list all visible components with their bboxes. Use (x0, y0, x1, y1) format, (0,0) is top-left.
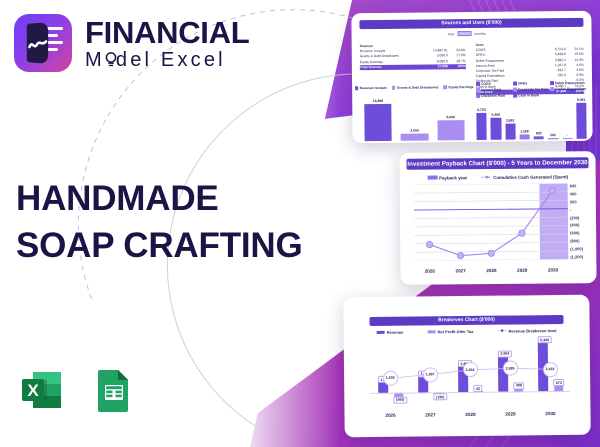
bar-value-label-uses-2: 3,992 (506, 119, 515, 123)
payback-ytick-9: (1,200) (570, 254, 594, 259)
months-label: months (474, 31, 485, 35)
legend-label-breakeven-level: Revenue Breakeven level (508, 328, 556, 334)
sources-bar-chart: 14,8983,0008,000 (364, 94, 464, 141)
payback-ytick-4: (200) (570, 215, 594, 220)
legend-label-uses-0: COGS (481, 82, 491, 86)
payback-x-axis-labels: 20262027202820292030 (414, 267, 568, 278)
net-profit-value-label-1: (190) (433, 393, 446, 400)
legend-item-uses-0: COGS (476, 82, 511, 86)
sources-table: SourcesRevenue receipts14,897.9153.9%Gra… (360, 43, 466, 70)
legend-label-cumulative-cash: Cumulative Cash Generated (Spent) (493, 174, 568, 180)
legend-swatch-breakeven-level (497, 329, 506, 334)
payback-xtick-3: 2029 (507, 268, 538, 278)
legend-item-uses-3: Interest Paid (476, 88, 511, 92)
legend-swatch-uses-0 (476, 82, 480, 86)
bar-column-sources-0: 14,898 (364, 99, 392, 141)
card-investment-payback[interactable]: Investment Payback Chart ($'000) - 5 Yea… (399, 151, 596, 285)
payback-xtick-4: 2030 (538, 267, 569, 277)
financial-model-document-icon (14, 14, 72, 72)
brand-name-line2-suffix: del Excel (116, 49, 226, 71)
legend-item-sources-0: Revenue receipts (355, 86, 387, 90)
bar-column-uses-1: 5,469 (491, 113, 502, 140)
legend-item-sources-2: Equity Earnings (443, 85, 473, 89)
net-profit-value-label-4: 673 (553, 379, 564, 386)
bar-value-label-uses-5: 262 (550, 133, 556, 137)
bar-value-label-sources-1: 3,000 (410, 128, 419, 132)
trend-squiggle-icon (28, 38, 48, 52)
payback-y-axis-labels: 600400200-(200)(400)(600)(800)(1,000)(1,… (570, 183, 595, 259)
legend-item-cumulative-cash: Cumulative Cash Generated (Spent) (481, 174, 568, 180)
microsoft-excel-icon: X (18, 366, 66, 414)
legend-label-sources-2: Equity Earnings (448, 85, 473, 89)
legend-label-revenue: Revenue (387, 330, 404, 335)
card-breakeven[interactable]: Breakeven Chart ($'000) Revenue Net Prof… (343, 295, 590, 438)
legend-item-breakeven-level: Revenue Breakeven level (497, 328, 556, 334)
bar-column-sources-2: 8,000 (437, 115, 465, 140)
payback-plot-area (414, 183, 569, 260)
net-profit-value-label-0: (465) (394, 396, 407, 403)
legend-swatch-uses-3 (476, 88, 480, 92)
total-name: Total Sources (360, 64, 422, 70)
cumulative-cash-point (488, 250, 494, 256)
breakeven-title: Breakeven Chart ($'000) (369, 315, 563, 326)
legend-item-sources-1: Grants & Debt Drawdowns (392, 85, 439, 89)
bar-value-label-uses-4: 833 (536, 131, 542, 135)
format-badges: X (18, 366, 136, 414)
cumulative-cash-point (457, 252, 463, 258)
card-sources-and-uses[interactable]: Sources and Uses ($'000) Year months Sou… (351, 11, 592, 144)
left-content: FINANCIAL M del Excel HANDMADE SOAP CRAF… (0, 0, 340, 447)
payback-title: Investment Payback Chart ($'000) - 5 Yea… (406, 157, 588, 170)
bar-value-label-sources-2: 8,000 (446, 116, 455, 120)
breakeven-marker-4: 2,433 (542, 362, 557, 377)
payback-year-band (539, 183, 568, 259)
sources-legend: Revenue receiptsGrants & Debt DrawdownsE… (360, 85, 468, 90)
legend-swatch-revenue (377, 331, 385, 334)
bar-column-uses-2: 3,992 (505, 119, 515, 140)
google-sheets-icon (88, 366, 136, 414)
bar-column-uses-0: 6,723 (476, 108, 487, 140)
payback-xtick-0: 2026 (414, 268, 445, 278)
breakeven-baseline (370, 391, 570, 394)
payback-ytick-8: (1,000) (570, 246, 594, 251)
net-profit-value-label-3: 408 (513, 382, 524, 389)
year-filter-value-chip[interactable] (457, 31, 471, 36)
breakeven-xtick-0: 2026 (370, 413, 410, 423)
bar-column-uses-4: 833 (534, 131, 544, 139)
breakeven-xtick-4: 2030 (530, 411, 570, 421)
bar-uses-6 (562, 138, 572, 139)
bar-uses-1 (491, 118, 501, 140)
headline-line2: SOAP CRAFTING (16, 223, 303, 270)
cumulative-cash-point (519, 230, 525, 236)
brand-wordmark: FINANCIAL M del Excel (85, 17, 249, 70)
legend-item-uses-5: Capital Expenditure (550, 87, 586, 91)
document-lines-icon (46, 27, 63, 59)
page-title: HANDMADE SOAP CRAFTING (16, 176, 303, 270)
net-profit-value-label-2: 43 (473, 385, 482, 392)
legend-swatch-uses-4 (513, 88, 517, 92)
headline-line1: HANDMADE (16, 176, 303, 223)
revenue-value-label-3: 3,904 (498, 350, 512, 357)
legend-swatch-sources-2 (443, 86, 447, 90)
payback-ytick-6: (600) (570, 230, 594, 235)
sources-uses-title: Sources and Uses ($'000) (359, 18, 583, 29)
table-total-row: Total Sources27,898100% (360, 64, 466, 70)
total-pct: 100% (448, 64, 466, 69)
legend-swatch-uses-2 (550, 81, 554, 85)
payback-ytick-7: (800) (570, 238, 594, 243)
legend-item-uses-2: Debts Repayments (550, 81, 586, 85)
brand-name-line2: M del Excel (85, 50, 226, 70)
bar-uses-3 (519, 134, 529, 139)
payback-xtick-2: 2028 (476, 268, 507, 278)
legend-label-uses-1: OPEX (518, 81, 527, 85)
legend-swatch-sources-1 (392, 86, 396, 90)
bar-value-label-uses-6: - (567, 133, 568, 137)
legend-label-uses-5: Capital Expenditure (555, 87, 586, 91)
breakeven-xtick-1: 2027 (410, 412, 450, 422)
legend-label-uses-3: Interest Paid (481, 88, 501, 92)
brand-logo: FINANCIAL M del Excel (14, 14, 249, 72)
legend-swatch-payback-year (427, 176, 437, 180)
legend-label-net-profit: Net Profit After Tax (437, 329, 473, 334)
uses-bar-chart: 6,7235,4693,9921,268833262-9,061 (476, 93, 586, 140)
breakeven-plot-area: 1,240(465)1,6391,848(190)1,9972,857432,4… (370, 337, 571, 407)
breakeven-xtick-3: 2029 (490, 411, 530, 421)
bar-value-label-sources-0: 14,898 (373, 99, 383, 103)
bar-sources-1 (401, 133, 428, 141)
bar-value-label-uses-3: 1,268 (520, 129, 529, 133)
bar-sources-0 (364, 104, 392, 141)
legend-item-payback-year: Payback year (427, 175, 467, 180)
payback-xtick-1: 2027 (445, 268, 476, 278)
breakeven-x-axis-labels: 20262027202820292030 (370, 411, 570, 423)
payback-gridline (414, 259, 568, 260)
payback-ytick-2: 200 (570, 199, 594, 204)
payback-svg (414, 183, 569, 260)
bar-column-uses-5: 262 (548, 133, 558, 139)
payback-ytick-3: - (570, 207, 594, 212)
bar-column-uses-3: 1,268 (519, 129, 529, 139)
legend-label-sources-1: Grants & Debt Drawdowns (397, 85, 439, 89)
payback-legend: Payback year Cumulative Cash Generated (… (407, 172, 589, 182)
bar-sources-2 (437, 120, 465, 140)
breakeven-marker-3: 2,585 (502, 361, 517, 376)
revenue-value-label-4: 5,366 (538, 336, 552, 343)
total-value: 27,898 (422, 64, 448, 69)
legend-label-uses-2: Debts Repayments (555, 81, 585, 85)
cumulative-cash-point (549, 187, 555, 193)
legend-label-payback-year: Payback year (439, 175, 467, 180)
bar-column-sources-1: 3,000 (401, 128, 428, 141)
breakeven-marker-0: 1,639 (383, 371, 398, 386)
legend-swatch-sources-0 (355, 86, 359, 90)
breakeven-marker-1: 1,997 (423, 367, 438, 382)
bar-value-label-uses-1: 5,469 (492, 113, 501, 117)
payback-ytick-1: 400 (570, 191, 594, 196)
bar-value-label-uses-7: 9,061 (577, 98, 586, 102)
bar-uses-4 (534, 136, 544, 139)
legend-label-uses-4: Corporate Tax Paid (518, 87, 548, 91)
brand-name-line1: FINANCIAL (85, 17, 249, 48)
bar-value-label-uses-0: 6,723 (477, 108, 486, 112)
cumulative-cash-point (426, 241, 432, 247)
bar-column-uses-7: 9,061 (576, 98, 587, 139)
breakeven-marker-2: 2,454 (462, 362, 477, 377)
legend-swatch-net-profit (427, 330, 435, 333)
bar-column-uses-6: - (562, 133, 572, 139)
legend-item-uses-1: OPEX (513, 81, 548, 85)
breakeven-legend: Revenue Net Profit After Tax Revenue Bre… (370, 327, 564, 336)
payback-ytick-0: 600 (570, 183, 594, 188)
svg-text:X: X (27, 381, 39, 400)
legend-swatch-uses-1 (513, 82, 517, 86)
brand-name-line2-prefix: M (85, 49, 105, 71)
bar-uses-7 (576, 103, 587, 139)
legend-item-uses-4: Corporate Tax Paid (513, 87, 548, 91)
year-filter-label: Year (448, 32, 455, 36)
year-filter[interactable]: Year months (448, 31, 486, 36)
bar-uses-5 (548, 138, 558, 139)
legend-label-sources-0: Revenue receipts (360, 86, 387, 90)
bar-uses-0 (476, 113, 487, 140)
breakeven-xtick-2: 2028 (450, 412, 490, 422)
legend-swatch-cumulative-cash (481, 175, 491, 179)
legend-item-net-profit: Net Profit After Tax (427, 329, 473, 334)
bar-uses-2 (505, 124, 515, 140)
legend-item-revenue: Revenue (377, 330, 404, 335)
legend-swatch-uses-5 (550, 87, 554, 91)
payback-ytick-5: (400) (570, 223, 594, 228)
poster-canvas: FINANCIAL M del Excel HANDMADE SOAP CRAF… (0, 0, 600, 447)
